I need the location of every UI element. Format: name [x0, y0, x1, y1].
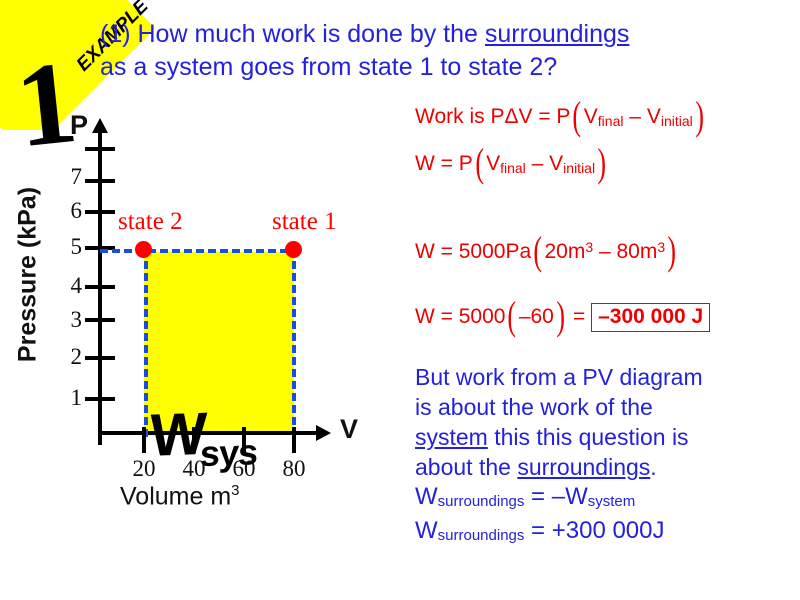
y-tick-label-7: 7	[58, 164, 82, 190]
page-title: (1) How much work is done by the surroun…	[100, 18, 780, 84]
slide-canvas: EXAMPLE 1 (1) How much work is done by t…	[0, 0, 800, 600]
volume-guide-line-20	[144, 249, 148, 437]
x-axis-title-main: Volume m	[120, 482, 231, 510]
x-tick-80	[292, 427, 296, 453]
y-tick-7	[85, 179, 115, 183]
equation-line-1: Work is PΔV = P(Vfinal – Vinitial)	[415, 105, 706, 129]
note-line-3-underlined: system	[415, 424, 488, 450]
y-axis-arrow	[92, 118, 108, 133]
x-tick-20	[142, 427, 146, 453]
eq2-v1-sub: final	[500, 160, 526, 176]
note-line-4: about the surroundings.	[415, 452, 790, 482]
note-w2-subscript: surroundings	[438, 527, 525, 544]
note-w1-subscript-2: system	[588, 493, 636, 510]
v-axis-symbol: V	[340, 414, 358, 445]
eq3-b: 80m	[617, 240, 658, 263]
eq2-lead: W = P	[415, 152, 473, 175]
eq4-equals: =	[567, 305, 591, 328]
note-w1-subscript: surroundings	[438, 493, 525, 510]
eq3-minus: –	[593, 240, 616, 263]
x-axis-arrow	[316, 425, 331, 441]
eq1-v2: V	[647, 105, 661, 128]
x-tick-40	[192, 427, 196, 453]
note-w1-symbol: W	[415, 483, 438, 510]
y-tick-label-1: 1	[58, 385, 82, 411]
eq1-v2-sub: initial	[661, 113, 693, 129]
x-axis-title-exponent: 3	[231, 482, 239, 499]
x-tick-label-20: 20	[122, 456, 166, 482]
y-tick-2	[85, 356, 115, 360]
state-point-2	[135, 241, 152, 258]
equation-line-2: W = P(Vfinal – Vinitial)	[415, 152, 608, 176]
title-line1-underlined: surroundings	[485, 20, 630, 48]
equation-line-3: W = 5000Pa(20m3 – 80m3)	[415, 239, 678, 264]
eq1-v1-sub: final	[598, 113, 624, 129]
y-axis-title: Pressure (kPa)	[14, 175, 43, 375]
y-tick-label-5: 5	[58, 234, 82, 260]
pv-diagram: Pressure (kPa) P V 7 6 5 4 3 2 1 state 2	[0, 110, 400, 540]
eq2-minus: –	[526, 152, 549, 175]
eq3-b-exponent: 3	[657, 239, 665, 255]
eq2-v2: V	[549, 152, 563, 175]
volume-guide-line-80	[292, 249, 296, 437]
y-tick-label-3: 3	[58, 307, 82, 333]
state-point-1	[285, 241, 302, 258]
x-axis-title: Volume m3	[120, 482, 240, 511]
x-tick-label-40: 40	[172, 456, 216, 482]
y-tick-label-6: 6	[58, 198, 82, 224]
title-line1-pre: (1) How much work is done by the	[100, 20, 485, 48]
y-tick-label-4: 4	[58, 273, 82, 299]
conclusion-note: But work from a PV diagram is about the …	[415, 362, 790, 550]
equation-line-4: W = 5000(–60) = –300 000 J	[415, 303, 710, 332]
note-line-2: is about the work of the	[415, 392, 790, 422]
answer-box: –300 000 J	[591, 303, 710, 332]
y-tick-1	[85, 397, 115, 401]
note-work-equation-1: Wsurroundings = –Wsystem	[415, 482, 790, 516]
note-work-equation-2: Wsurroundings = +300 000J	[415, 516, 790, 550]
state-1-label: state 1	[272, 208, 337, 236]
eq2-v2-sub: initial	[563, 160, 595, 176]
eq3-a-exponent: 3	[585, 239, 593, 255]
note-w2-result: = +300 000J	[524, 517, 664, 544]
pressure-guide-line	[100, 249, 300, 253]
eq4-lead: W = 5000	[415, 305, 505, 328]
note-line-3-rest: this this question is	[488, 424, 689, 450]
y-tick-6	[85, 210, 115, 214]
y-tick-4	[85, 285, 115, 289]
title-line2: as a system goes from state 1 to state 2…	[100, 53, 557, 81]
eq1-minus: –	[623, 105, 646, 128]
eq4-value: –60	[519, 305, 554, 328]
note-line-4-pre: about the	[415, 454, 517, 480]
note-w2-symbol: W	[415, 517, 438, 544]
y-tick-3	[85, 318, 115, 322]
p-axis-symbol: P	[70, 110, 88, 141]
note-line-4-post: .	[650, 454, 656, 480]
x-tick-label-60: 60	[222, 456, 266, 482]
note-line-3: system this this question is	[415, 422, 790, 452]
eq3-a: 20m	[544, 240, 585, 263]
y-tick-8	[85, 147, 115, 151]
note-line-1: But work from a PV diagram	[415, 362, 790, 392]
eq1-v1: V	[584, 105, 598, 128]
eq1-lead: Work is PΔV = P	[415, 105, 570, 128]
eq2-v1: V	[486, 152, 500, 175]
y-tick-label-2: 2	[58, 344, 82, 370]
x-tick-label-80: 80	[272, 456, 316, 482]
note-line-4-underlined: surroundings	[517, 454, 650, 480]
note-w1-equals: = –W	[524, 483, 587, 510]
eq3-lead: W = 5000Pa	[415, 240, 531, 263]
x-tick-60	[242, 427, 246, 453]
state-2-label: state 2	[118, 208, 183, 236]
